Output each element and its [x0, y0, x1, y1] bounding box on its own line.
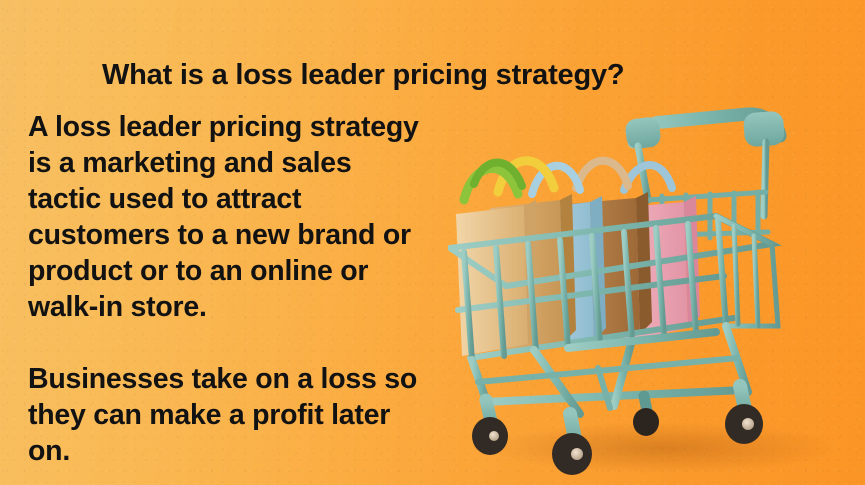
- cart-ground-shadow: [488, 422, 838, 474]
- cart-wheel-front-center: [552, 414, 592, 475]
- cart-wheel-front-left: [472, 400, 508, 455]
- body-copy: A loss leader pricing strategy is a mark…: [28, 109, 428, 469]
- page-title: What is a loss leader pricing strategy?: [102, 59, 624, 92]
- slide-canvas: What is a loss leader pricing strategy? …: [0, 0, 865, 485]
- paragraph-1: A loss leader pricing strategy is a mark…: [28, 109, 428, 325]
- cart-handle: [624, 111, 785, 150]
- cart-wheel-rear-right: [725, 386, 763, 444]
- cart-wheel-rear-center: [633, 396, 659, 436]
- shopping-cart-image: [448, 96, 858, 485]
- paragraph-2: Businesses take on a loss so they can ma…: [28, 361, 428, 469]
